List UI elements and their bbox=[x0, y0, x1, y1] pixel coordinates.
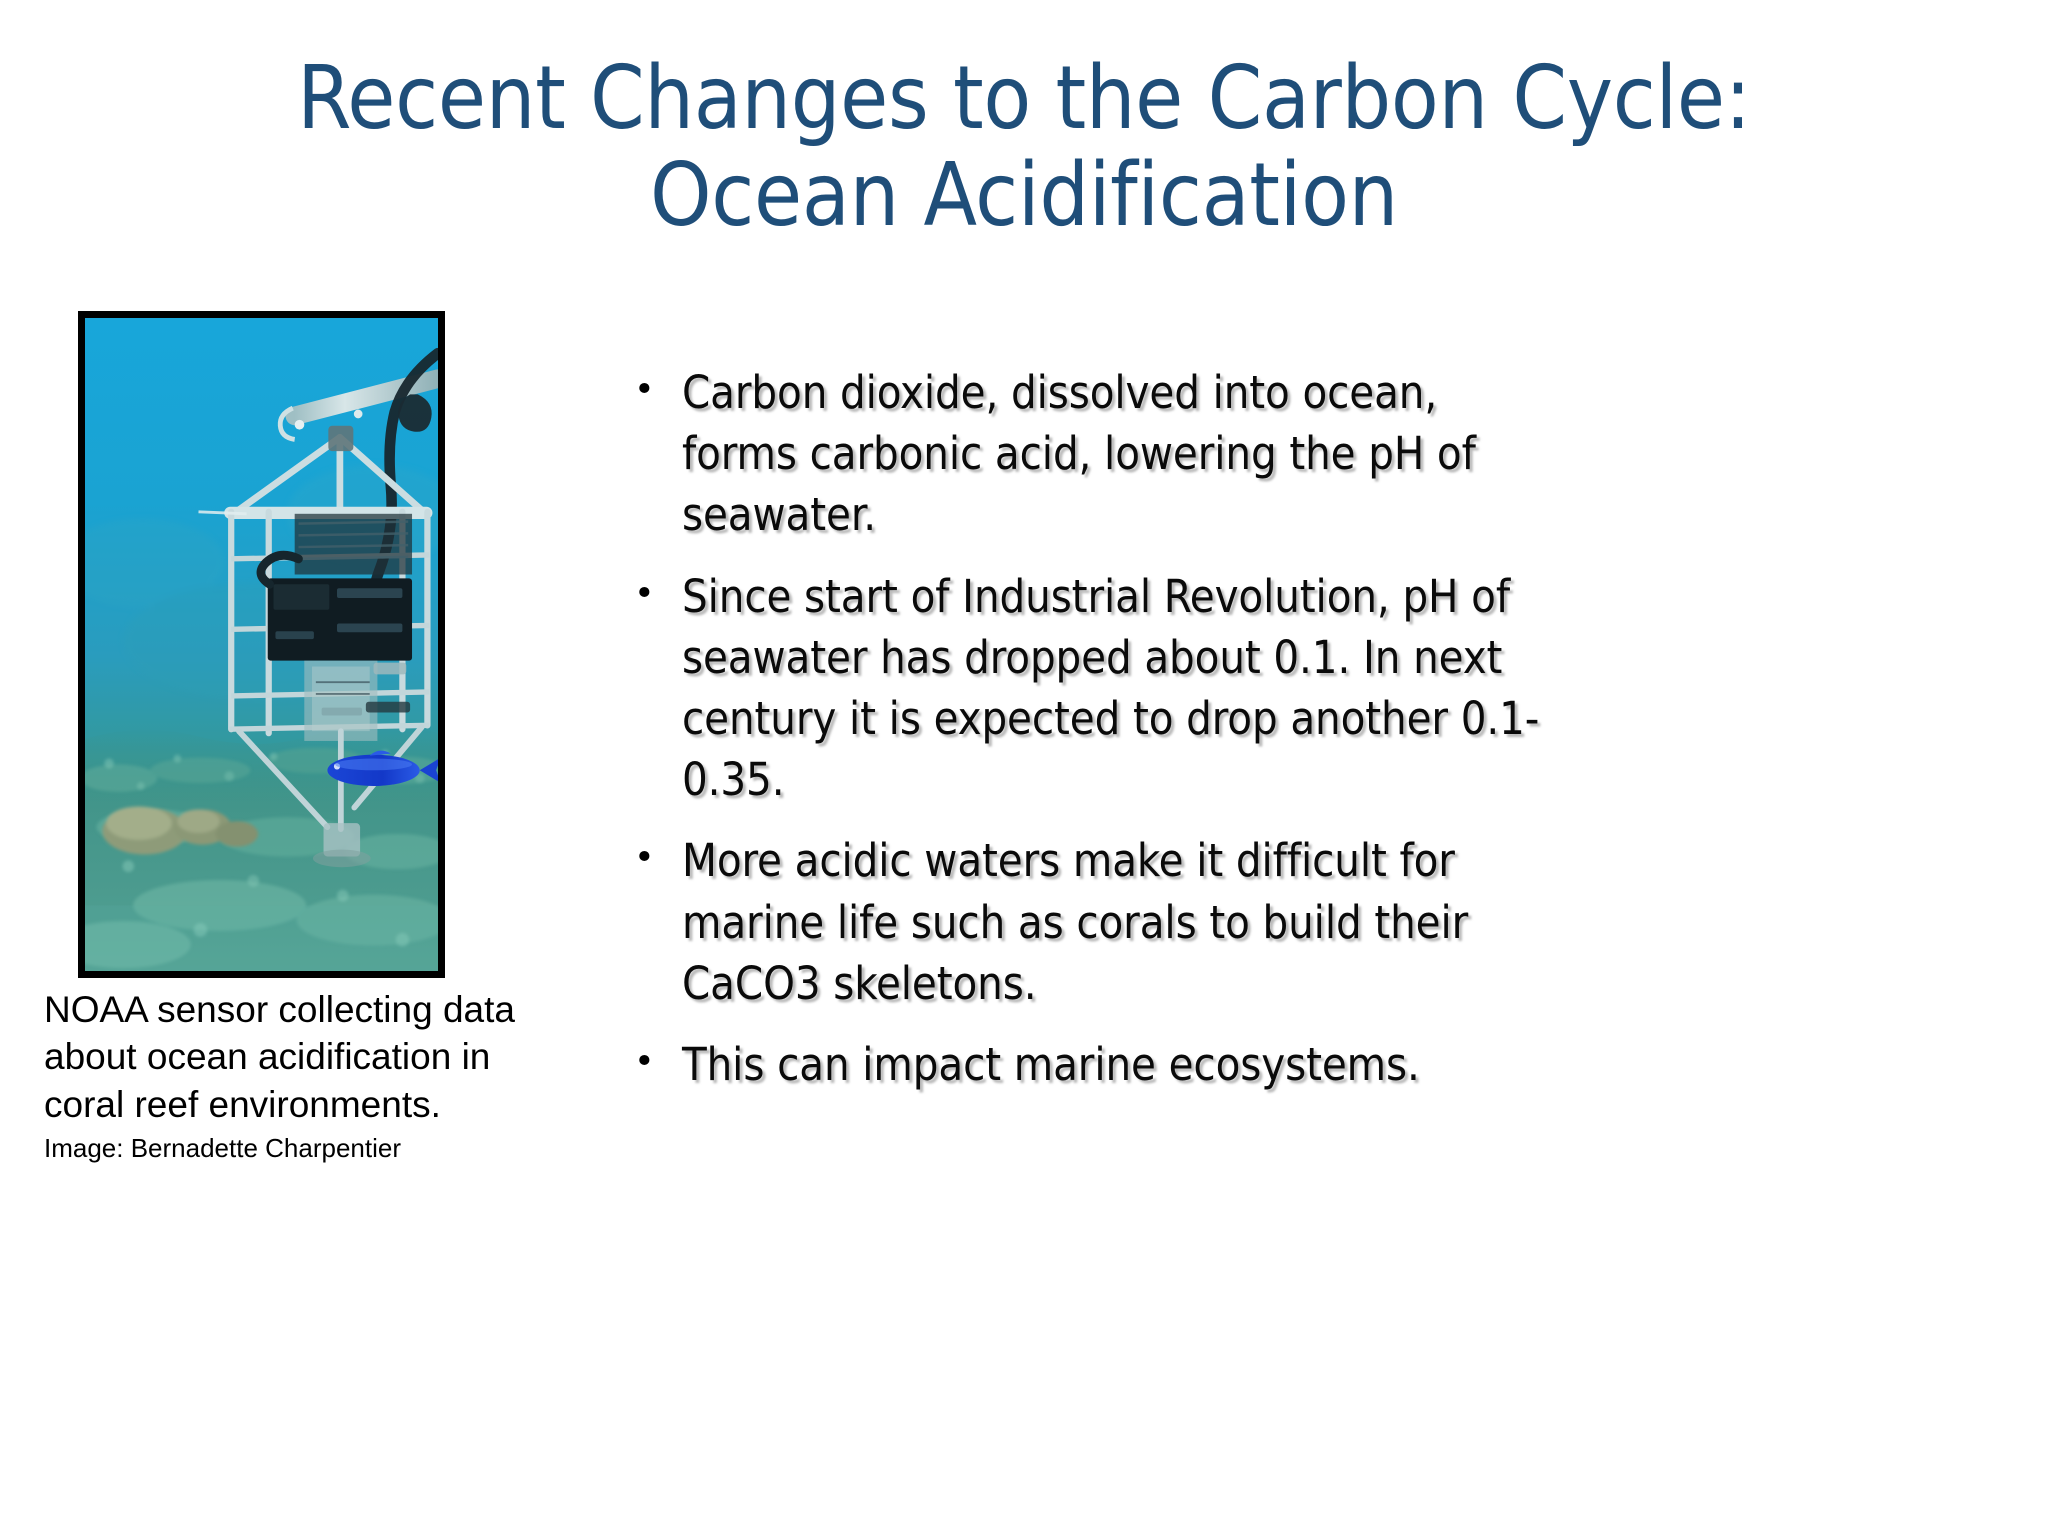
bullet-text: Since start of Industrial Revolution, pH… bbox=[682, 566, 1540, 811]
photo-caption-line-3: coral reef environments. bbox=[44, 1081, 604, 1128]
underwater-sensor-photo bbox=[78, 311, 445, 978]
bullet-list: • Carbon dioxide, dissolved into ocean, … bbox=[620, 362, 1540, 1115]
bullet-marker-icon: • bbox=[620, 830, 682, 883]
page-title-line-2: Ocean Acidification bbox=[140, 147, 1908, 244]
list-item: • More acidic waters make it difficult f… bbox=[620, 830, 1540, 1014]
bullet-text: Carbon dioxide, dissolved into ocean, fo… bbox=[682, 362, 1540, 546]
page-title-line-1: Recent Changes to the Carbon Cycle: bbox=[140, 50, 1908, 147]
photo-credit: Image: Bernadette Charpentier bbox=[44, 1132, 604, 1165]
photo-caption-line-2: about ocean acidification in bbox=[44, 1033, 604, 1080]
bullet-marker-icon: • bbox=[620, 362, 682, 415]
bullet-text: More acidic waters make it difficult for… bbox=[682, 830, 1540, 1014]
list-item: • This can impact marine ecosystems. bbox=[620, 1034, 1540, 1095]
list-item: • Since start of Industrial Revolution, … bbox=[620, 566, 1540, 811]
slide-canvas: Recent Changes to the Carbon Cycle: Ocea… bbox=[0, 0, 2048, 1536]
underwater-scene-illustration bbox=[85, 318, 438, 971]
photo-caption: NOAA sensor collecting data about ocean … bbox=[44, 986, 604, 1165]
bullet-marker-icon: • bbox=[620, 1034, 682, 1087]
list-item: • Carbon dioxide, dissolved into ocean, … bbox=[620, 362, 1540, 546]
bullet-text: This can impact marine ecosystems. bbox=[682, 1034, 1540, 1095]
bullet-marker-icon: • bbox=[620, 566, 682, 619]
page-title: Recent Changes to the Carbon Cycle: Ocea… bbox=[140, 50, 1908, 245]
photo-caption-line-1: NOAA sensor collecting data bbox=[44, 986, 604, 1033]
